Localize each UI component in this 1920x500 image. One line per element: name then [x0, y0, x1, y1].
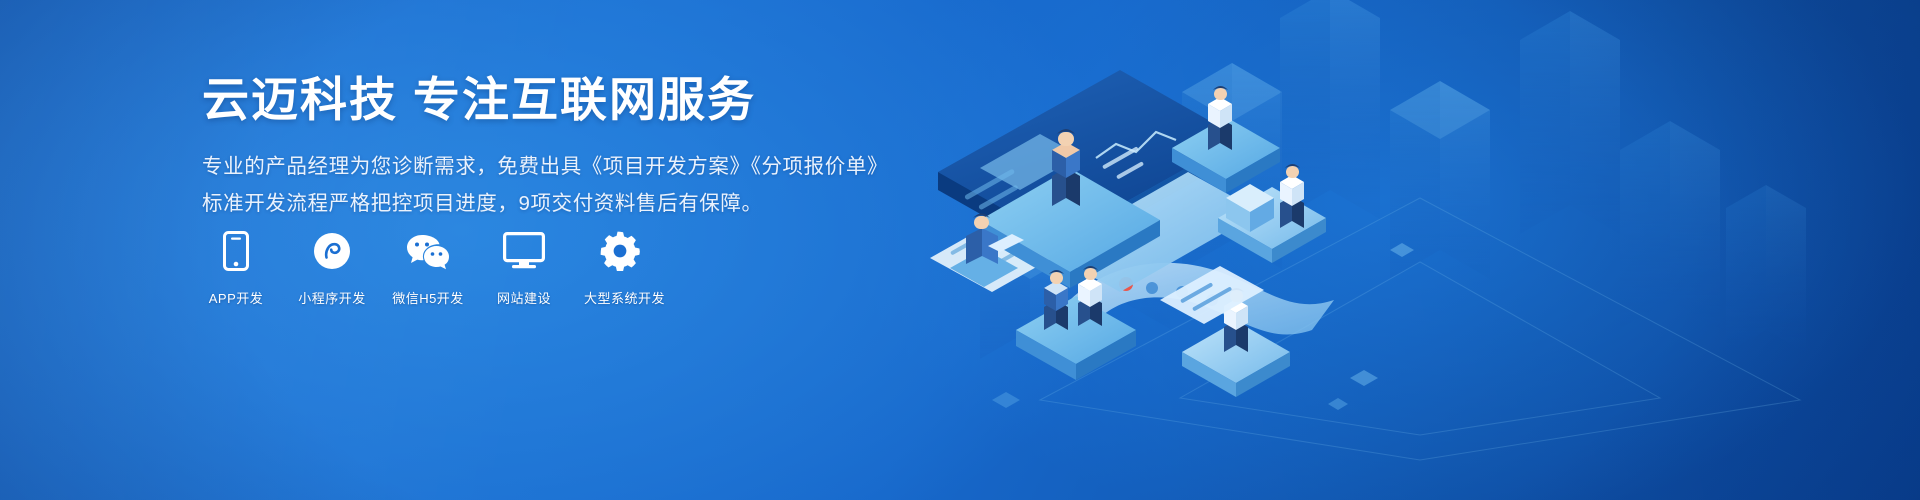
service-item-website[interactable]: 网站建设 — [488, 228, 560, 307]
person-lower-right — [1224, 288, 1248, 352]
dashboard-screen — [938, 70, 1240, 258]
pedestal-main — [980, 168, 1160, 288]
pedestal-lower-right — [1182, 321, 1290, 397]
mobile-phone-icon — [200, 228, 272, 274]
person-standing-main — [1052, 129, 1080, 206]
isometric-data-platform-illustration — [920, 0, 1920, 500]
mini-program-icon — [296, 228, 368, 274]
service-label-wechat: 微信H5开发 — [392, 288, 464, 307]
banner-subtitle: 专业的产品经理为您诊断需求，免费出具《项目开发方案》《分项报价单》 标准开发流程… — [202, 149, 902, 222]
illustration-container — [920, 0, 1920, 500]
hero-banner: 云迈科技 专注互联网服务 专业的产品经理为您诊断需求，免费出具《项目开发方案》《… — [0, 0, 1920, 500]
pedestal-lower-left — [1016, 296, 1136, 380]
service-label-miniprogram: 小程序开发 — [296, 288, 368, 307]
background-bars — [980, 0, 1806, 359]
person-lower-left-b — [1078, 266, 1102, 326]
gear-icon — [584, 228, 656, 274]
subtitle-line-1: 专业的产品经理为您诊断需求，免费出具《项目开发方案》《分项报价单》 — [202, 149, 902, 185]
data-ribbon — [1070, 263, 1334, 335]
person-right-upper — [1208, 86, 1232, 150]
decorative-diamonds — [992, 243, 1414, 410]
service-label-website: 网站建设 — [488, 288, 560, 307]
service-label-system: 大型系统开发 — [584, 288, 656, 307]
person-seated-laptop — [950, 214, 1024, 288]
person-lower-left-a — [1044, 270, 1068, 330]
service-item-wechat[interactable]: 微信H5开发 — [392, 228, 464, 307]
pedestal-right-mid — [1218, 187, 1326, 263]
floating-panel-right — [1160, 266, 1264, 324]
page-title: 云迈科技 专注互联网服务 — [202, 72, 902, 127]
pedestal-right-upper — [1172, 117, 1280, 193]
list-panel — [1048, 172, 1260, 292]
service-label-app: APP开发 — [200, 288, 272, 307]
person-right-mid — [1280, 164, 1304, 228]
wechat-icon — [392, 228, 464, 274]
box-cube-right — [1226, 184, 1274, 232]
service-item-miniprogram[interactable]: 小程序开发 — [296, 228, 368, 307]
ground-grid — [1040, 198, 1800, 460]
service-list: APP开发 小程序开发 微信 — [200, 228, 656, 307]
subtitle-line-2: 标准开发流程严格把控项目进度，9项交付资料售后有保障。 — [202, 186, 902, 222]
document-sheets — [930, 214, 1070, 292]
banner-content: 云迈科技 专注互联网服务 专业的产品经理为您诊断需求，免费出具《项目开发方案》《… — [202, 72, 902, 222]
service-item-app[interactable]: APP开发 — [200, 228, 272, 307]
service-item-system[interactable]: 大型系统开发 — [584, 228, 656, 307]
monitor-icon — [488, 228, 560, 274]
